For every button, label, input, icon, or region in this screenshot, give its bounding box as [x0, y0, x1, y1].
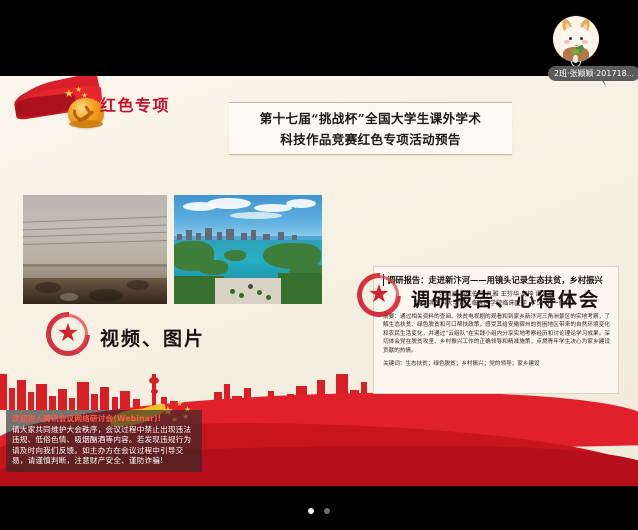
slide-pagination[interactable]: [0, 506, 638, 516]
section-title-video: 视频、图片: [100, 324, 205, 351]
red-star-brush-icon: ★: [46, 312, 90, 356]
participant-name-tag: 2班·张颖颖·201718...: [548, 66, 638, 81]
red-special-label: 红色专项: [100, 92, 170, 116]
party-emblem-icon: [68, 98, 104, 128]
before-photo: [23, 195, 167, 304]
slide-title-plaque: 第十七届“挑战杯”全国大学生课外学术 科技作品竞赛红色专项活动预告: [229, 102, 512, 155]
shared-slide: ★ ★ ★ ★ ★ ★★ ★★★ 红色专项 第十七届“挑战: [0, 76, 638, 486]
webinar-notice: 欢迎进入腾讯会议网络研讨会(Webinar)! 请大家共同维护大会秩序，会议过程…: [6, 410, 202, 472]
slide-title-line-2: 科技作品竞赛红色专项活动预告: [280, 129, 461, 150]
red-star-brush-icon: ★: [357, 273, 401, 317]
pagination-dot-2[interactable]: [324, 508, 330, 514]
report-abstract: 摘要：通过相关资料的查阅、扶贫电视剧的观看和到家乡新汴河三角洲景区的实地考察，了…: [383, 313, 610, 355]
section-title-report: 调研报告、心得体会: [411, 285, 600, 312]
slide-title-line-1: 第十七届“挑战杯”全国大学生课外学术: [260, 108, 482, 129]
webinar-notice-body: 请大家共同维护大会秩序，会议过程中禁止出现违法违规、低俗色情、吸烟酗酒等内容。若…: [12, 425, 196, 467]
pagination-dot-1[interactable]: [308, 508, 314, 514]
meeting-stage: 2班·张颖颖·201718...: [0, 0, 638, 530]
webinar-notice-heading: 欢迎进入腾讯会议网络研讨会(Webinar)!: [12, 414, 196, 425]
after-photo: [174, 195, 322, 304]
report-keywords: 关键词：生态扶贫；绿色脱贫；乡村振兴；党的领导；家乡建设: [383, 360, 610, 368]
